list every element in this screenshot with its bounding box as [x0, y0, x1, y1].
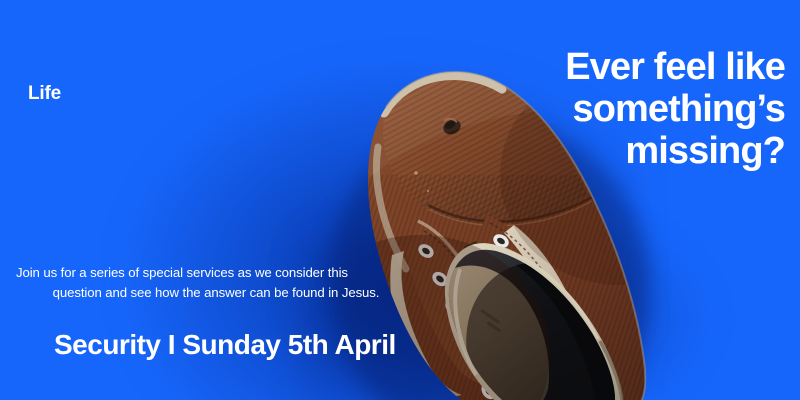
body-copy: Join us for a series of special services…: [16, 263, 416, 303]
brand-logo: Life: [28, 84, 61, 103]
headline-line-3: missing?: [365, 130, 785, 172]
event-details: Security I Sunday 5th April: [54, 328, 396, 362]
headline-line-2: something’s: [365, 88, 785, 130]
headline-line-1: Ever feel like: [365, 46, 785, 88]
promo-poster: Life Ever feel like something’s missing?…: [0, 0, 800, 400]
headline: Ever feel like something’s missing?: [365, 46, 785, 172]
body-copy-line-1: Join us for a series of special services…: [16, 263, 416, 283]
body-copy-line-2: question and see how the answer can be f…: [16, 283, 416, 303]
